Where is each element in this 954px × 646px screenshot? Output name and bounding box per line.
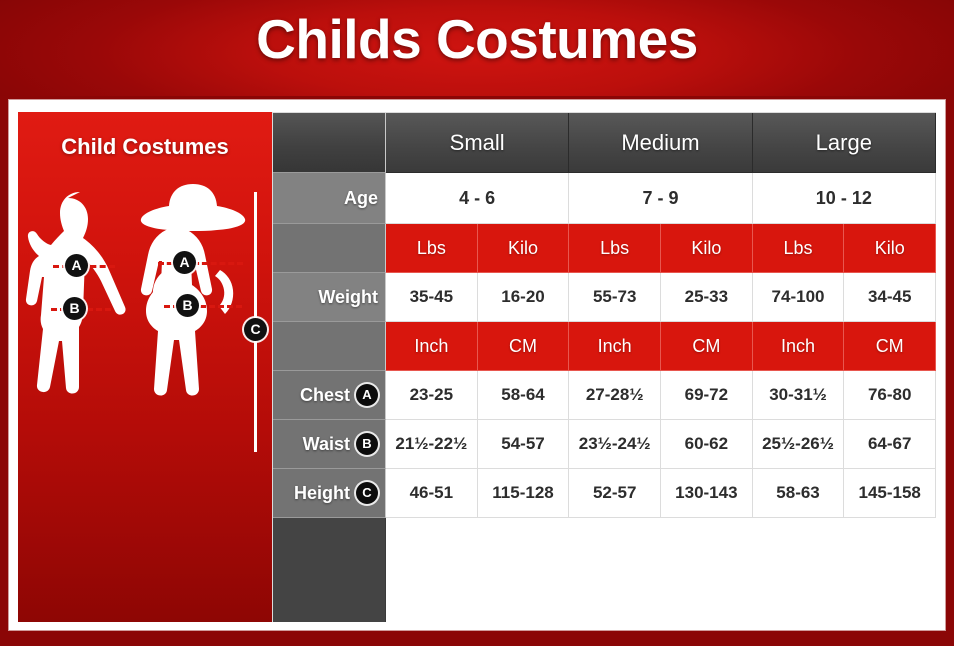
- row-label-height: Height C: [273, 469, 386, 518]
- unit-inch-small: Inch: [386, 322, 478, 371]
- unit-inch-medium: Inch: [569, 322, 661, 371]
- marker-b-girl: B: [63, 297, 86, 320]
- unit-cm-small: CM: [478, 322, 570, 371]
- cell-chest-inch-large: 30-31½: [753, 371, 845, 420]
- table-row-length-units: Inch CM Inch CM Inch CM: [273, 322, 936, 371]
- cell-age-medium: 7 - 9: [569, 173, 752, 224]
- marker-a-girl: A: [65, 254, 88, 277]
- cell-weight-kilo-small: 16-20: [478, 273, 570, 322]
- row-badge-a: A: [356, 384, 378, 406]
- unit-kilo-medium: Kilo: [661, 224, 753, 273]
- unit-kilo-large: Kilo: [844, 224, 936, 273]
- table-row-chest: Chest A 23-25 58-64 27-28½ 69-72 30-31½ …: [273, 371, 936, 420]
- row-badge-b: B: [356, 433, 378, 455]
- cell-chest-inch-medium: 27-28½: [569, 371, 661, 420]
- row-label-weight: Weight: [273, 273, 386, 322]
- illustration-title: Child Costumes: [18, 134, 272, 160]
- cell-height-inch-small: 46-51: [386, 469, 478, 518]
- cell-waist-cm-medium: 60-62: [661, 420, 753, 469]
- marker-c-height: C: [244, 318, 267, 341]
- size-chart-page: Childs Costumes Child Costumes: [0, 0, 954, 646]
- cell-height-inch-medium: 52-57: [569, 469, 661, 518]
- header-corner-cell: [273, 113, 386, 173]
- table-header-row: Small Medium Large: [273, 113, 936, 173]
- marker-a-boy: A: [173, 251, 196, 274]
- filler-blank-cell: [386, 518, 936, 622]
- cell-weight-lbs-medium: 55-73: [569, 273, 661, 322]
- boy-silhouette: [141, 184, 245, 396]
- cell-chest-inch-small: 23-25: [386, 371, 478, 420]
- cell-height-inch-large: 58-63: [753, 469, 845, 518]
- chest-dash-boy: [158, 262, 243, 265]
- unit-lbs-medium: Lbs: [569, 224, 661, 273]
- cell-chest-cm-large: 76-80: [844, 371, 936, 420]
- page-title: Childs Costumes: [0, 7, 954, 71]
- table-row-age: Age 4 - 6 7 - 9 10 - 12: [273, 173, 936, 224]
- cell-height-cm-large: 145-158: [844, 469, 936, 518]
- cell-waist-cm-small: 54-57: [478, 420, 570, 469]
- chart-card: Child Costumes: [9, 100, 945, 630]
- cell-waist-inch-small: 21½-22½: [386, 420, 478, 469]
- cell-weight-lbs-large: 74-100: [753, 273, 845, 322]
- row-label-chest: Chest A: [273, 371, 386, 420]
- unit-lbs-small: Lbs: [386, 224, 478, 273]
- row-badge-c: C: [356, 482, 378, 504]
- cell-weight-kilo-medium: 25-33: [661, 273, 753, 322]
- unit-kilo-small: Kilo: [478, 224, 570, 273]
- cell-chest-cm-small: 58-64: [478, 371, 570, 420]
- cell-weight-kilo-large: 34-45: [844, 273, 936, 322]
- size-header-medium: Medium: [569, 113, 752, 173]
- size-header-small: Small: [386, 113, 569, 173]
- cell-height-cm-small: 115-128: [478, 469, 570, 518]
- cell-age-large: 10 - 12: [753, 173, 936, 224]
- unit-cm-large: CM: [844, 322, 936, 371]
- cell-chest-cm-medium: 69-72: [661, 371, 753, 420]
- table-row-weight-units: Lbs Kilo Lbs Kilo Lbs Kilo: [273, 224, 936, 273]
- size-header-large: Large: [753, 113, 936, 173]
- cell-age-small: 4 - 6: [386, 173, 569, 224]
- table-row-weight: Weight 35-45 16-20 55-73 25-33 74-100 34…: [273, 273, 936, 322]
- row-label-waist-text: Waist: [303, 434, 350, 455]
- cell-weight-lbs-small: 35-45: [386, 273, 478, 322]
- size-table: Small Medium Large Age 4 - 6 7 - 9 10 - …: [272, 112, 936, 622]
- row-label-age: Age: [273, 173, 386, 224]
- silhouettes-svg: [18, 174, 272, 474]
- figure-silhouettes: [18, 174, 272, 474]
- unit-lbs-large: Lbs: [753, 224, 845, 273]
- girl-silhouette: [26, 192, 126, 394]
- table-filler-row: [273, 518, 936, 622]
- cell-waist-cm-large: 64-67: [844, 420, 936, 469]
- row-label-chest-text: Chest: [300, 385, 350, 406]
- row-label-length-units: [273, 322, 386, 371]
- marker-b-boy: B: [176, 294, 199, 317]
- cell-height-cm-medium: 130-143: [661, 469, 753, 518]
- table-row-waist: Waist B 21½-22½ 54-57 23½-24½ 60-62 25½-…: [273, 420, 936, 469]
- row-label-waist: Waist B: [273, 420, 386, 469]
- title-banner: Childs Costumes: [0, 0, 954, 96]
- row-label-weight-units: [273, 224, 386, 273]
- table-row-height: Height C 46-51 115-128 52-57 130-143 58-…: [273, 469, 936, 518]
- unit-cm-medium: CM: [661, 322, 753, 371]
- illustration-panel: Child Costumes: [18, 112, 272, 622]
- unit-inch-large: Inch: [753, 322, 845, 371]
- filler-label-cell: [273, 518, 386, 622]
- cell-waist-inch-large: 25½-26½: [753, 420, 845, 469]
- cell-waist-inch-medium: 23½-24½: [569, 420, 661, 469]
- row-label-height-text: Height: [294, 483, 350, 504]
